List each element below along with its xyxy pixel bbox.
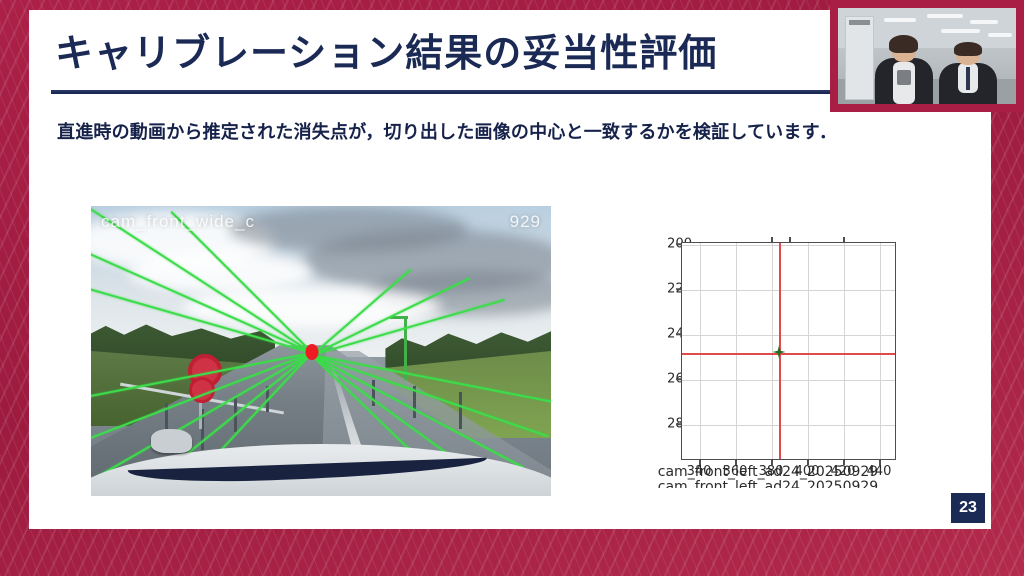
webcam-video xyxy=(838,8,1016,104)
dashcam-image: cam_front_wide_c 929 xyxy=(91,206,551,496)
gridline-v xyxy=(700,243,701,459)
plot-axes xyxy=(681,242,896,460)
gridline-h xyxy=(682,335,895,336)
gridline-h xyxy=(682,245,895,246)
vanishing-point-marker xyxy=(306,344,319,360)
plot-caption: cam_front_left_ad24_20250929 xyxy=(658,464,878,480)
crosshair-horizontal xyxy=(682,353,895,355)
ceiling-light xyxy=(970,20,998,24)
photo-overlay-left-text: cam_front_wide_c xyxy=(101,212,255,232)
fence-post xyxy=(459,392,462,430)
gridline-h xyxy=(682,425,895,426)
x-tick-mark-top xyxy=(843,237,845,242)
office-door xyxy=(845,16,873,100)
slide-stage: キャリブレーション結果の妥当性評価 直進時の動画から推定された消失点が，切り出し… xyxy=(0,0,1024,576)
ceiling-light xyxy=(941,29,980,33)
body-paragraph: 直進時の動画から推定された消失点が，切り出した画像の中心と一致するかを検証してい… xyxy=(57,118,957,144)
slide-number-badge: 23 xyxy=(951,493,985,523)
gridline-v xyxy=(736,243,737,459)
x-tick-mark-top xyxy=(771,237,773,242)
estimated-vanishing-point-marker xyxy=(773,346,786,359)
page-title: キャリブレーション結果の妥当性評価 xyxy=(55,22,717,77)
presenter-webcam[interactable] xyxy=(830,0,1024,112)
ceiling-light xyxy=(927,14,963,18)
gridline-h xyxy=(682,380,895,381)
presenter-left xyxy=(874,29,935,104)
x-tick-mark-top xyxy=(789,237,791,242)
presenter-right xyxy=(938,35,999,104)
person-hair xyxy=(954,42,982,56)
person-hair xyxy=(889,35,918,53)
side-mirror xyxy=(151,429,192,452)
photo-overlay-right-text: 929 xyxy=(510,212,541,232)
ceiling-light xyxy=(884,18,916,22)
vanishing-point-plot: 200 220 240 260 280 xyxy=(623,228,913,490)
gridline-h xyxy=(682,290,895,291)
gridline-v xyxy=(808,243,809,459)
shirt-print xyxy=(897,70,912,85)
gridline-v xyxy=(880,243,881,459)
door-sign xyxy=(849,20,870,26)
gridline-v xyxy=(844,243,845,459)
photo-overlay-label: cam_front_wide_c 929 xyxy=(101,212,541,232)
gridline-v xyxy=(772,243,773,459)
person-tie xyxy=(966,67,971,90)
plot-caption-clipped: cam_front_left_ad24_20250929 xyxy=(658,479,878,488)
